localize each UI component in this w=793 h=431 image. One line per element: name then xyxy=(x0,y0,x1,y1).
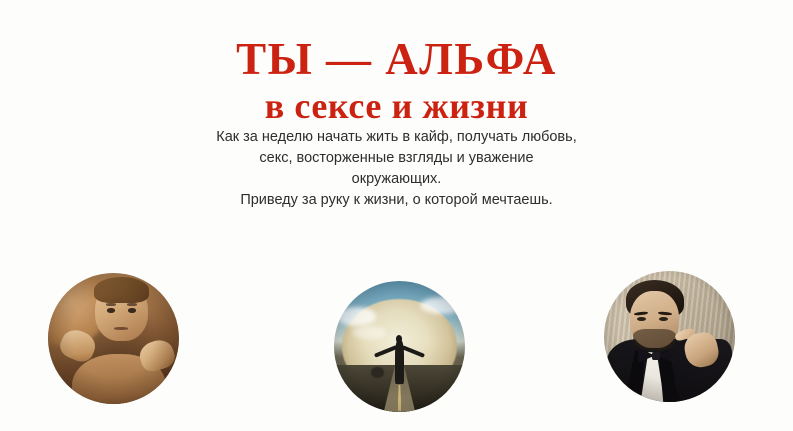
gallery-item-3 xyxy=(604,271,735,402)
page-title-line-1: ТЫ — АЛЬФА xyxy=(0,35,793,84)
hero-subtitle-line-4: Приведу за руку к жизни, о которой мечта… xyxy=(0,190,793,211)
photo-man-tuxedo-pointing xyxy=(604,271,735,402)
landing-hero-page: ТЫ — АЛЬФА в сексе и жизни Как за неделю… xyxy=(0,0,793,431)
hero-subtitle-line-2: секс, восторженные взгляды и уважение xyxy=(0,148,793,169)
hero-subtitle-line-1: Как за неделю начать жить в кайф, получа… xyxy=(0,127,793,148)
photo-gallery xyxy=(0,268,793,431)
hero-subtitle: Как за неделю начать жить в кайф, получа… xyxy=(0,127,793,211)
photo1-vignette xyxy=(48,273,179,404)
gallery-item-2 xyxy=(334,281,465,412)
photo3-vignette xyxy=(604,271,735,402)
photo-shirtless-man xyxy=(48,273,179,404)
gallery-item-1 xyxy=(48,273,179,404)
photo-man-arms-open-road xyxy=(334,281,465,412)
page-title-line-2: в сексе и жизни xyxy=(0,85,793,127)
hero-subtitle-line-3: окружающих. xyxy=(0,169,793,190)
photo2-vignette xyxy=(334,281,465,412)
page-title: ТЫ — АЛЬФА в сексе и жизни xyxy=(0,35,793,127)
